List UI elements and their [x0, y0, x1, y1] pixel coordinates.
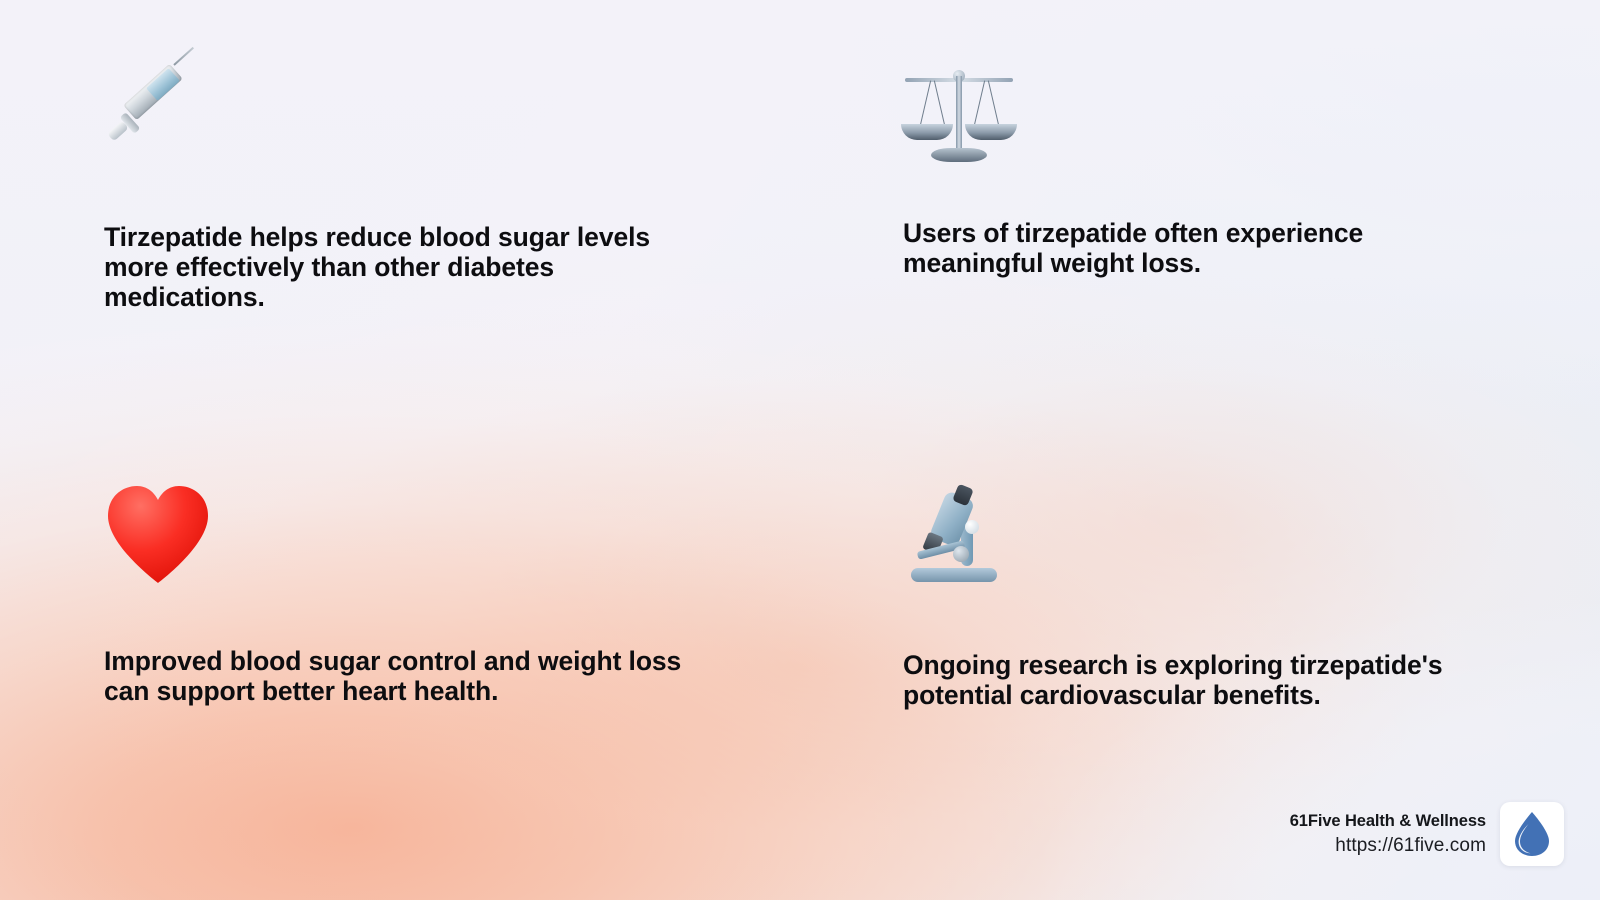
brand-url[interactable]: https://61five.com	[1335, 835, 1486, 857]
brand-name: 61Five Health & Wellness	[1290, 812, 1486, 831]
brand-logo-tile[interactable]	[1500, 802, 1564, 866]
syringe-icon	[104, 62, 704, 160]
infographic-canvas: Tirzepatide helps reduce blood sugar lev…	[0, 0, 1600, 900]
benefit-card-research: Ongoing research is exploring tirzepatid…	[903, 484, 1503, 710]
benefit-card-weight-loss: Users of tirzepatide often experience me…	[903, 62, 1503, 278]
footer-branding: 61Five Health & Wellness https://61five.…	[1290, 802, 1564, 866]
balance-scale-icon	[903, 62, 1503, 170]
benefit-text-blood-sugar: Tirzepatide helps reduce blood sugar lev…	[104, 222, 704, 312]
benefit-card-blood-sugar: Tirzepatide helps reduce blood sugar lev…	[104, 62, 704, 312]
benefit-card-heart-health: Improved blood sugar control and weight …	[104, 484, 704, 706]
water-droplet-logo-icon	[1512, 811, 1552, 857]
benefit-text-weight-loss: Users of tirzepatide often experience me…	[903, 218, 1503, 278]
footer-text-block: 61Five Health & Wellness https://61five.…	[1290, 812, 1486, 857]
benefit-text-research: Ongoing research is exploring tirzepatid…	[903, 650, 1503, 710]
microscope-icon	[903, 484, 1503, 588]
red-heart-icon	[104, 484, 704, 584]
benefit-text-heart-health: Improved blood sugar control and weight …	[104, 646, 704, 706]
